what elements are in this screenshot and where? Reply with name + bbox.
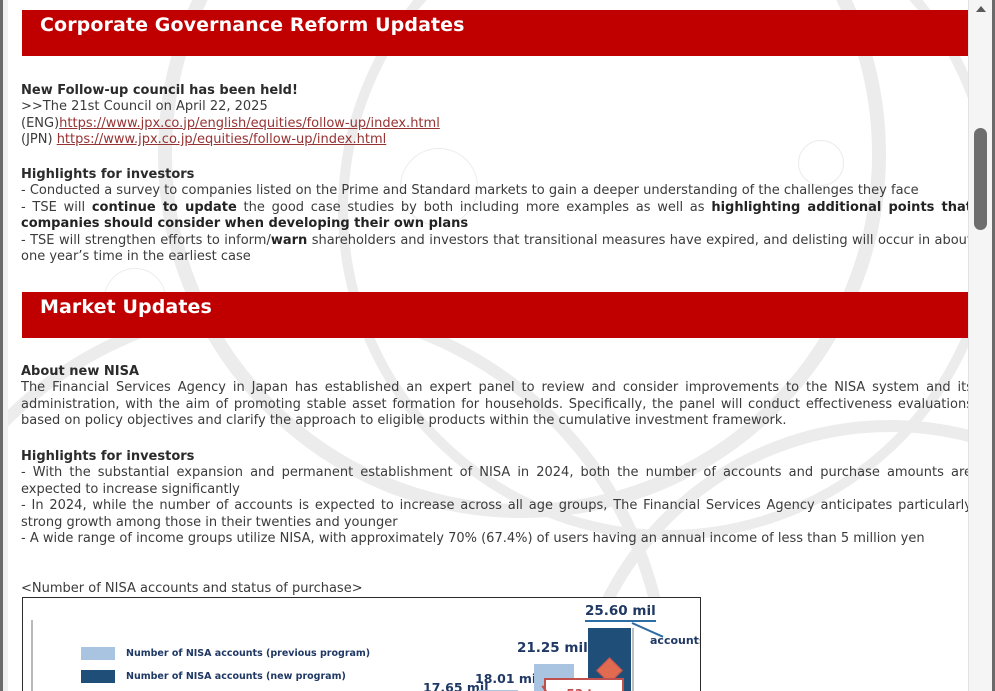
- chart-caption: <Number of NISA accounts and status of p…: [21, 581, 969, 598]
- eng-followup-link[interactable]: https://www.jpx.co.jp/english/equities/f…: [59, 116, 440, 131]
- governance-bullet-2-emphasis-1: continue to update: [92, 200, 237, 215]
- chart-callout-53tn: 53 tn: [544, 678, 624, 691]
- governance-bullet-3-emphasis: warn: [271, 233, 307, 248]
- governance-eng-link-row: (ENG)https://www.jpx.co.jp/english/equit…: [21, 116, 969, 133]
- governance-highlights-title: Highlights for investors: [21, 166, 969, 183]
- market-bullet-3: - A wide range of income groups utilize …: [21, 531, 969, 548]
- chart-caption-text: <Number of NISA accounts and status of p…: [21, 581, 969, 598]
- governance-bullet-2-part-2: the good case studies by both including …: [237, 200, 712, 215]
- market-subheading: About new NISA: [21, 363, 969, 380]
- legend-swatch-new-program: [81, 670, 115, 683]
- governance-council-line: >>The 21st Council on April 22, 2025: [21, 99, 969, 116]
- chart-annotation-accounts: accounts: [650, 634, 701, 647]
- market-paragraph: The Financial Services Agency in Japan h…: [21, 380, 969, 430]
- governance-bullet-2: - TSE will continue to update the good c…: [21, 200, 969, 233]
- market-highlights: Highlights for investors - With the subs…: [21, 448, 969, 548]
- chart-data-label-2: 18.01 mil: [475, 671, 541, 686]
- market-highlights-title: Highlights for investors: [21, 448, 969, 465]
- jpn-followup-link[interactable]: https://www.jpx.co.jp/equities/follow-up…: [57, 132, 387, 147]
- chart-legend: Number of NISA accounts (previous progra…: [81, 642, 370, 688]
- market-bullet-1: - With the substantial expansion and per…: [21, 465, 969, 498]
- governance-bullet-3: - TSE will strengthen efforts to inform/…: [21, 233, 969, 266]
- chart-legend-item: Number of NISA accounts (previous progra…: [81, 642, 370, 665]
- triangle-up-glyph: [976, 6, 986, 12]
- nisa-accounts-chart: Number of NISA accounts (previous progra…: [22, 597, 701, 691]
- governance-bullet-3-part-1: - TSE will strengthen efforts to inform/: [21, 233, 271, 248]
- chart-callout-53tn-text: 53 tn: [566, 688, 601, 691]
- section-title-market: Market Updates: [40, 296, 212, 318]
- scroll-up-arrow-icon[interactable]: [969, 0, 992, 17]
- legend-label-previous-program: Number of NISA accounts (previous progra…: [126, 648, 370, 659]
- governance-bullet-1: - Conducted a survey to companies listed…: [21, 183, 969, 200]
- chart-data-label-4: 25.60 mil: [585, 603, 656, 622]
- governance-subheading: New Follow-up council has been held!: [21, 82, 969, 99]
- governance-highlights: Highlights for investors - Conducted a s…: [21, 166, 969, 266]
- legend-swatch-previous-program: [81, 647, 115, 660]
- document-content: Corporate Governance Reform Updates New …: [8, 0, 969, 691]
- jpn-prefix-label: (JPN): [21, 132, 57, 147]
- chart-y-axis: [31, 620, 33, 691]
- vertical-scrollbar[interactable]: [968, 0, 992, 691]
- scrollbar-thumb[interactable]: [974, 128, 987, 230]
- document-viewport: Corporate Governance Reform Updates New …: [3, 0, 969, 691]
- market-bullet-2: - In 2024, while the number of accounts …: [21, 498, 969, 531]
- governance-bullet-2-part-1: - TSE will: [21, 200, 92, 215]
- governance-jpn-link-row: (JPN) https://www.jpx.co.jp/equities/fol…: [21, 132, 969, 149]
- chart-data-label-3: 21.25 mil: [517, 640, 588, 656]
- application-window: Corporate Governance Reform Updates New …: [0, 0, 995, 691]
- section-header-bar-governance: Corporate Governance Reform Updates: [22, 10, 969, 56]
- chart-legend-item: Number of NISA accounts (new program): [81, 665, 370, 688]
- legend-label-new-program: Number of NISA accounts (new program): [126, 671, 346, 682]
- section-header-bar-market: Market Updates: [22, 292, 969, 338]
- section-title-governance: Corporate Governance Reform Updates: [40, 14, 465, 36]
- eng-prefix-label: (ENG): [21, 116, 59, 131]
- document-page: Corporate Governance Reform Updates New …: [8, 0, 969, 691]
- governance-body: New Follow-up council has been held! >>T…: [21, 82, 969, 149]
- chart-bar-outline: [632, 628, 634, 691]
- market-about: About new NISA The Financial Services Ag…: [21, 363, 969, 430]
